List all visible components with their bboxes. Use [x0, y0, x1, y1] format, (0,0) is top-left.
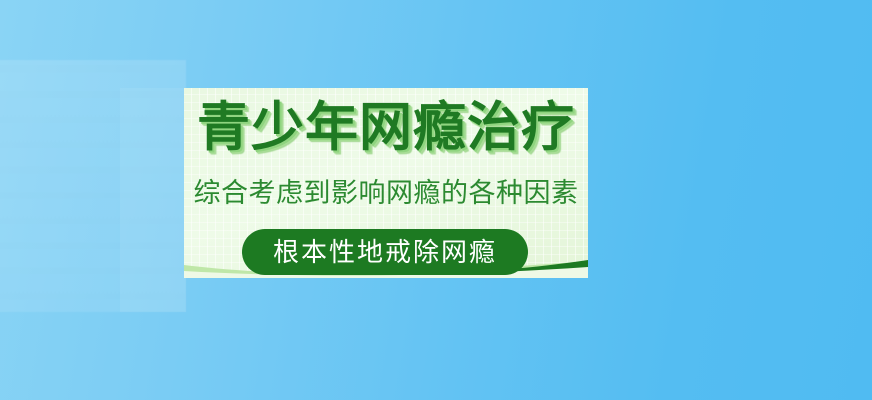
subtitle-text: 综合考虑到影响网瘾的各种因素 — [184, 180, 588, 207]
headline-text: 青少年网瘾治疗 — [184, 101, 588, 154]
background-highlight-panel — [0, 60, 186, 312]
promo-banner: 青少年网瘾治疗 综合考虑到影响网瘾的各种因素 根本性地戒除网瘾 — [0, 0, 872, 400]
background-highlight-panel-inner — [120, 88, 186, 312]
cta-button[interactable]: 根本性地戒除网瘾 — [242, 229, 528, 275]
promo-card: 青少年网瘾治疗 综合考虑到影响网瘾的各种因素 根本性地戒除网瘾 — [184, 88, 588, 278]
cta-button-label: 根本性地戒除网瘾 — [273, 239, 497, 265]
